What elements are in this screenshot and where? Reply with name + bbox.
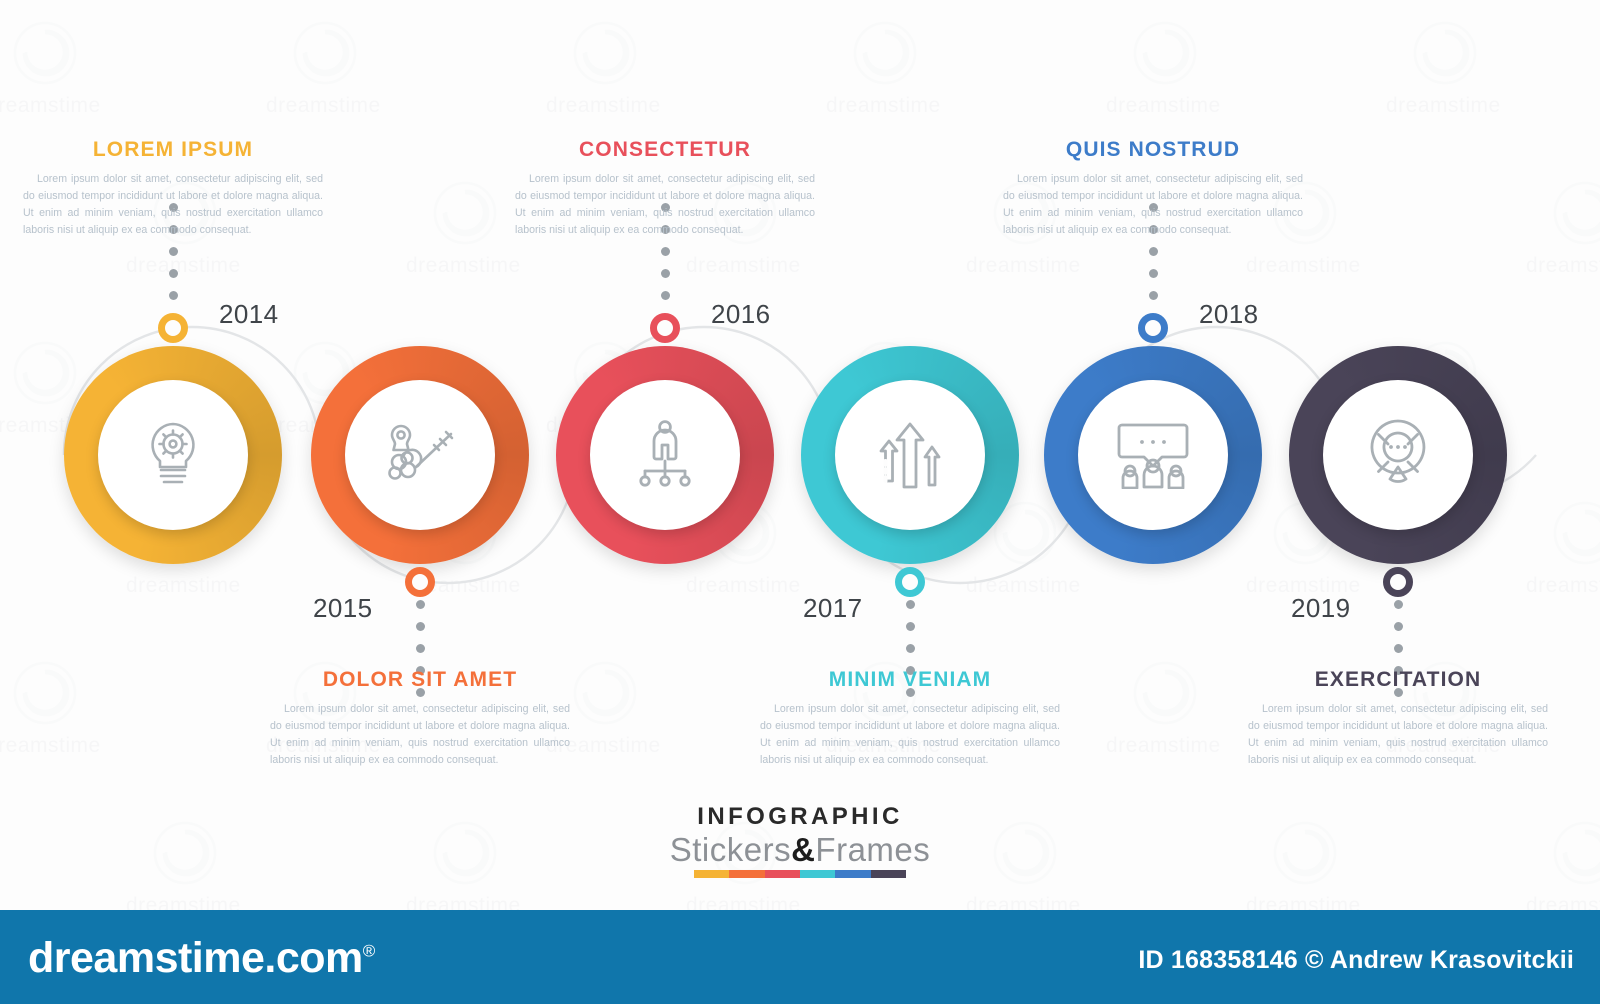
brand-frames: Frames — [815, 831, 930, 868]
connector-dot — [169, 269, 178, 278]
step-connector-node[interactable] — [1138, 313, 1168, 343]
brand-swatch — [871, 870, 906, 878]
step-description: Lorem ipsum dolor sit amet, consectetur … — [270, 701, 570, 770]
dreamstime-text: dreamstime.com — [28, 934, 363, 982]
step-text-block: CONSECTETURLorem ipsum dolor sit amet, c… — [515, 138, 815, 240]
lightbulb-gear-icon — [98, 380, 248, 530]
step-year: 2017 — [803, 593, 862, 624]
connector-dot — [1394, 644, 1403, 653]
step-connector-node[interactable] — [650, 313, 680, 343]
growth-arrows-icon — [835, 380, 985, 530]
connector-dot — [416, 644, 425, 653]
brand-swatch — [765, 870, 800, 878]
connector-dot — [416, 600, 425, 609]
org-hierarchy-icon — [590, 380, 740, 530]
connector-dot — [906, 600, 915, 609]
step-year: 2016 — [711, 299, 770, 330]
step-text-block: MINIM VENIAMLorem ipsum dolor sit amet, … — [760, 668, 1060, 770]
connector-dot — [661, 247, 670, 256]
brand-stickers: Stickers — [670, 831, 791, 868]
registered-icon: ® — [363, 942, 375, 961]
lifebuoy-icon — [1323, 380, 1473, 530]
step-description: Lorem ipsum dolor sit amet, consectetur … — [23, 171, 323, 240]
step-description: Lorem ipsum dolor sit amet, consectetur … — [760, 701, 1060, 770]
connector-dot — [416, 622, 425, 631]
step-text-block: DOLOR SIT AMETLorem ipsum dolor sit amet… — [270, 668, 570, 770]
connector-dot — [1394, 622, 1403, 631]
timeline-step[interactable] — [1289, 346, 1507, 564]
connector-dot — [661, 269, 670, 278]
step-title: QUIS NOSTRUD — [1003, 138, 1303, 162]
step-year: 2019 — [1291, 593, 1350, 624]
step-description: Lorem ipsum dolor sit amet, consectetur … — [1248, 701, 1548, 770]
step-title: DOLOR SIT AMET — [270, 668, 570, 692]
timeline-step[interactable] — [801, 346, 1019, 564]
step-title: EXERCITATION — [1248, 668, 1548, 692]
connector-dot — [1149, 291, 1158, 300]
dreamstime-logo: dreamstime.com® — [28, 934, 375, 983]
step-title: CONSECTETUR — [515, 138, 815, 162]
key-keyhole-icon — [345, 380, 495, 530]
image-credit: ID 168358146 © Andrew Krasovitckii — [1138, 946, 1574, 975]
connector-dot — [169, 291, 178, 300]
timeline-step[interactable] — [1044, 346, 1262, 564]
connector-dot — [1149, 269, 1158, 278]
step-description: Lorem ipsum dolor sit amet, consectetur … — [1003, 171, 1303, 240]
timeline-step[interactable] — [64, 346, 282, 564]
step-connector-node[interactable] — [1383, 567, 1413, 597]
brand-ampersand: & — [791, 831, 815, 868]
infographic-canvas: dreamstimedreamstimedreamstimedreamstime… — [0, 0, 1600, 1004]
timeline-step[interactable] — [311, 346, 529, 564]
brand-swatch — [694, 870, 729, 878]
speech-people-icon — [1078, 380, 1228, 530]
step-year: 2014 — [219, 299, 278, 330]
connector-dot — [1394, 600, 1403, 609]
step-year: 2015 — [313, 593, 372, 624]
brand-swatch — [729, 870, 764, 878]
timeline-step[interactable] — [556, 346, 774, 564]
brand-block: INFOGRAPHIC Stickers&Frames — [0, 805, 1600, 878]
connector-dot — [661, 291, 670, 300]
connector-dot — [1149, 247, 1158, 256]
brand-swatch — [835, 870, 870, 878]
brand-line-2: Stickers&Frames — [0, 829, 1600, 870]
step-year: 2018 — [1199, 299, 1258, 330]
step-connector-node[interactable] — [895, 567, 925, 597]
connector-dot — [906, 644, 915, 653]
step-description: Lorem ipsum dolor sit amet, consectetur … — [515, 171, 815, 240]
footer-bar: dreamstime.com® ID 168358146 © Andrew Kr… — [0, 910, 1600, 1004]
step-title: LOREM IPSUM — [23, 138, 323, 162]
brand-swatch — [800, 870, 835, 878]
step-connector-node[interactable] — [405, 567, 435, 597]
connector-dot — [906, 622, 915, 631]
brand-color-swatches — [694, 870, 906, 878]
step-text-block: LOREM IPSUMLorem ipsum dolor sit amet, c… — [23, 138, 323, 240]
step-text-block: QUIS NOSTRUDLorem ipsum dolor sit amet, … — [1003, 138, 1303, 240]
step-text-block: EXERCITATIONLorem ipsum dolor sit amet, … — [1248, 668, 1548, 770]
connector-dot — [169, 247, 178, 256]
step-connector-node[interactable] — [158, 313, 188, 343]
brand-line-1: INFOGRAPHIC — [0, 805, 1600, 829]
step-title: MINIM VENIAM — [760, 668, 1060, 692]
